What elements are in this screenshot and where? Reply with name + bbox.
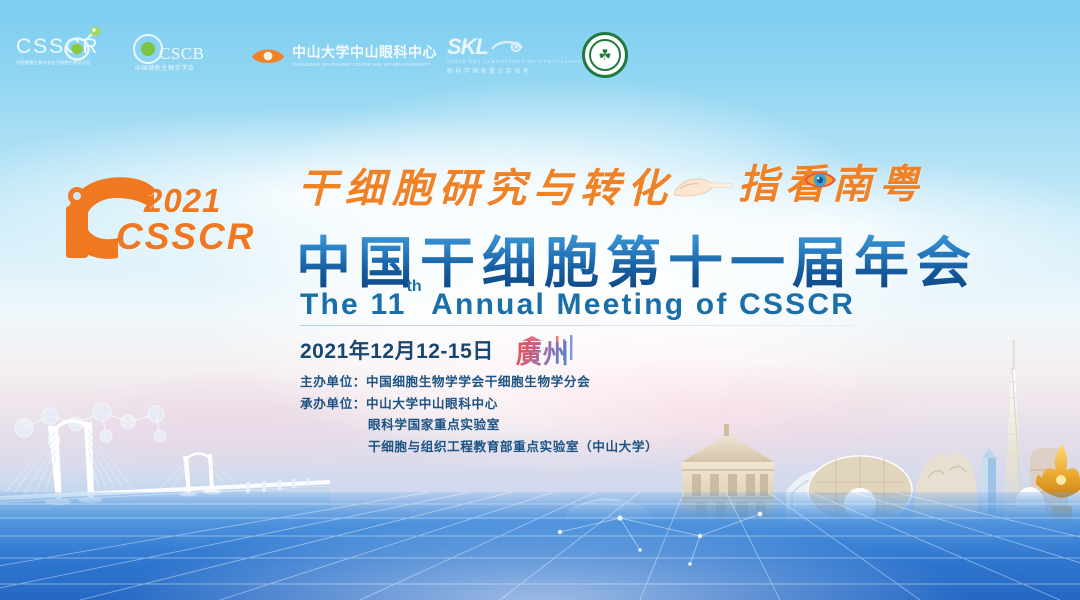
organizer-value: 中国细胞生物学学会干细胞生物学分会 bbox=[366, 374, 590, 389]
green-emblem-icon: ☘ bbox=[582, 32, 628, 78]
green-emblem-logo: ☘ bbox=[582, 32, 628, 78]
zhongshan-ophthalmic-center-logo: 中山大学中山眼科中心 ZHONGSHAN OPHTHALMIC CENTER S… bbox=[250, 42, 437, 68]
page-title: 中国干细胞第十一届年会 bbox=[296, 218, 978, 298]
event-year: 2021 bbox=[144, 182, 221, 220]
colorful-eye-icon bbox=[803, 168, 837, 192]
divider bbox=[300, 325, 855, 326]
cscb-logo: CSCB 中国细胞生物学学会 bbox=[133, 34, 233, 64]
zoc-wordmark: 中山大学中山眼科中心 bbox=[292, 42, 437, 62]
subtitle-english: The 11th Annual Meeting of CSSCR bbox=[300, 288, 855, 322]
skl-caption-en: STATE KEY LABORATORY OF OPHTHALMOLOGY bbox=[447, 59, 565, 66]
pointing-hand-icon bbox=[670, 170, 740, 204]
conference-poster: CSSCR 中国细胞生物学学会干细胞生物学分会 CSCB 中国细胞生物学学会 bbox=[0, 0, 1080, 600]
organizer-value: 眼科学国家重点实验室 bbox=[368, 417, 500, 432]
csscr-society-logo: CSSCR 中国细胞生物学学会干细胞生物学分会 bbox=[16, 36, 128, 66]
skl-wordmark: SKL bbox=[447, 36, 488, 58]
event-acronym: CSSCR bbox=[116, 216, 256, 258]
tagline: 干细胞研究与转化 指看南粤 bbox=[298, 152, 958, 214]
cscb-wordmark: CSCB bbox=[159, 44, 204, 64]
floor-glow bbox=[108, 520, 972, 600]
cscb-caption: 中国细胞生物学学会 bbox=[135, 65, 194, 74]
event-date: 2021年12月12-15日 bbox=[300, 335, 494, 365]
skl-caption-cn: 眼科学国家重点实验室 bbox=[447, 66, 565, 75]
digital-grid-floor bbox=[0, 492, 1080, 600]
zoc-eye-icon bbox=[250, 44, 286, 66]
subtitle-ordinal: th bbox=[407, 278, 422, 295]
skl-eye-icon bbox=[491, 37, 525, 57]
zoc-caption: ZHONGSHAN OPHTHALMIC CENTER SUN YAT-SEN … bbox=[292, 62, 437, 68]
state-key-lab-logo: SKL STATE KEY LABORATORY OF OPHTHALMOLOG… bbox=[447, 36, 565, 75]
subtitle-part-2: Annual Meeting of CSSCR bbox=[422, 288, 855, 321]
tagline-left: 干细胞研究与转化 bbox=[298, 156, 674, 214]
organizer-label: 主办单位： bbox=[300, 374, 366, 389]
date-row: 2021年12月12-15日 廣州 bbox=[300, 334, 582, 366]
event-logo-mark: 2021 CSSCR bbox=[58, 172, 258, 264]
csscr-cell-icon bbox=[63, 27, 103, 61]
sponsor-logo-strip: CSSCR 中国细胞生物学学会干细胞生物学分会 CSCB 中国细胞生物学学会 bbox=[0, 30, 1080, 92]
subtitle-part-1: The 11 bbox=[300, 288, 407, 321]
organizer-value: 中山大学中山眼科中心 bbox=[366, 396, 498, 411]
